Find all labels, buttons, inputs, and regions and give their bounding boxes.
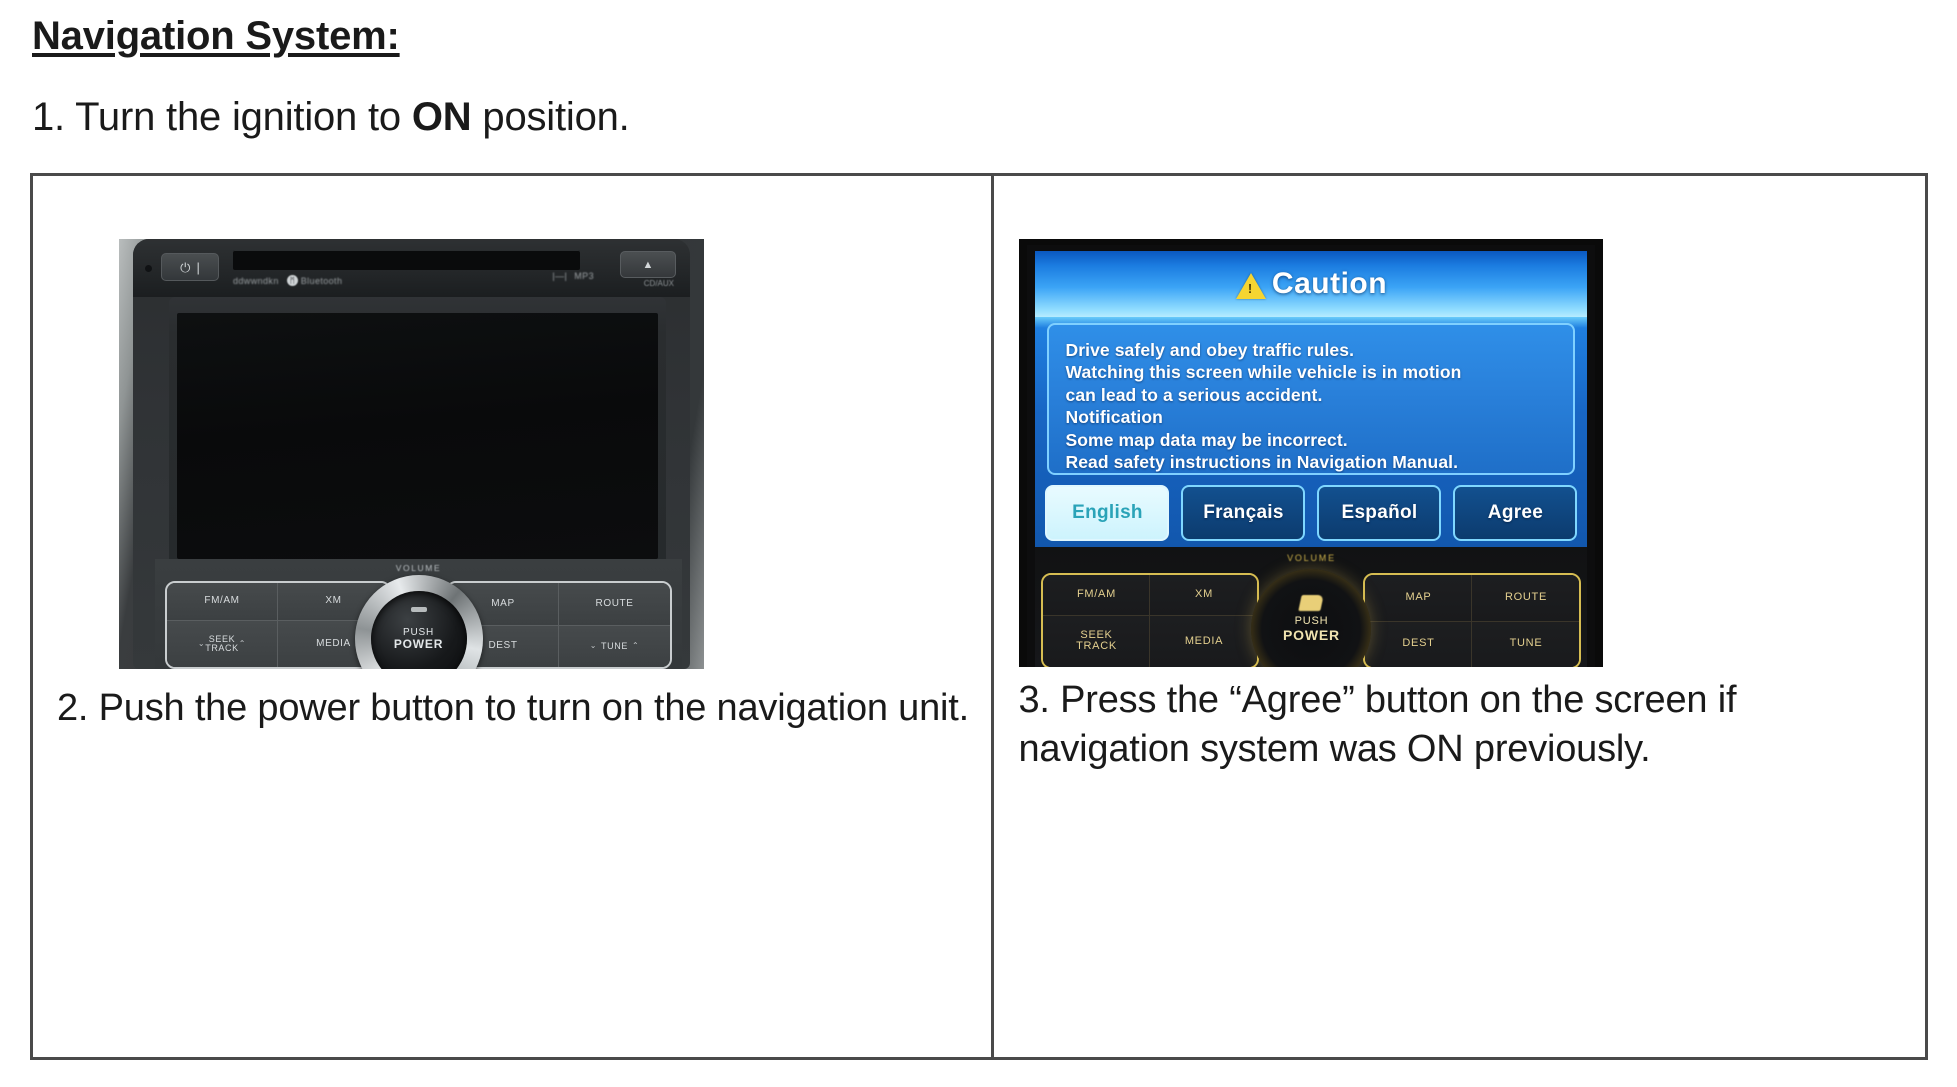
caution-line-2: Watching this screen while vehicle is in…: [1065, 361, 1573, 383]
table-cell-step-3: Caution Drive safely and obey traffic ru…: [994, 176, 1925, 1057]
language-button-english[interactable]: English: [1045, 485, 1169, 541]
lit-knob-push-label: PUSH: [1295, 615, 1329, 628]
head-unit-format-marks: |—| MP3: [552, 271, 594, 281]
aux-mark: |—|: [552, 271, 567, 281]
caution-line-3: can lead to a serious accident.: [1065, 384, 1573, 406]
tune-up-arrow-icon: ⌃: [632, 642, 639, 650]
nav-unit-hardware-panel: VOLUME FM/AM XM SEEK TRACK MEDIA: [1035, 547, 1587, 667]
step-1-emphasis: ON: [412, 95, 472, 139]
warning-triangle-icon: [1236, 273, 1266, 299]
bluetooth-label: Bluetooth: [301, 276, 343, 286]
lit-button-seek-track[interactable]: SEEK TRACK: [1043, 616, 1150, 667]
head-unit-screen-frame: [169, 297, 666, 559]
lit-button-cluster-left: FM/AM XM SEEK TRACK MEDIA: [1041, 573, 1259, 667]
lit-seek-label: SEEK: [1080, 629, 1112, 641]
power-volume-knob[interactable]: PUSH POWER: [355, 575, 483, 669]
caution-header: Caution: [1035, 251, 1587, 317]
eject-icon: ▲: [643, 259, 654, 271]
page-title: Navigation System:: [32, 14, 400, 59]
agree-button[interactable]: Agree: [1453, 485, 1577, 541]
head-unit-top-bezel: ⏻ | ddwwndkn ᛗ Bluetooth |—| MP3: [133, 239, 690, 297]
caution-title: Caution: [1272, 267, 1387, 301]
knob-position-mark-icon: [411, 607, 427, 612]
step-1-prefix: 1. Turn the ignition to: [32, 95, 412, 139]
caption-step-2: 2. Push the power button to turn on the …: [57, 684, 973, 733]
lit-track-label: TRACK: [1076, 640, 1117, 652]
head-unit-body: ⏻ | ddwwndkn ᛗ Bluetooth |—| MP3: [133, 239, 690, 669]
bluetooth-icon: ᛗ: [287, 275, 298, 286]
nav-unit-bezel: Caution Drive safely and obey traffic ru…: [1027, 245, 1595, 667]
caution-message-box: Drive safely and obey traffic rules. Wat…: [1047, 323, 1575, 475]
volume-label: VOLUME: [396, 563, 442, 573]
lit-button-media[interactable]: MEDIA: [1150, 616, 1257, 667]
heading-block: Navigation System: 1. Turn the ignition …: [30, 0, 1930, 140]
tune-label: TUNE: [601, 642, 628, 651]
nav-button-row: English Français Español Agree: [1045, 487, 1577, 539]
power-bar-icon: |: [196, 261, 199, 274]
step-1-suffix: position.: [472, 95, 630, 139]
seek-track-label: SEEK TRACK: [205, 635, 239, 654]
caution-line-1: Drive safely and obey traffic rules.: [1065, 339, 1573, 361]
caption-step-3: 3. Press the “Agree” button on the scree…: [1018, 676, 1907, 773]
lit-knob-power-label: POWER: [1283, 627, 1340, 643]
lit-knob-position-mark-icon: [1299, 595, 1324, 611]
nav-display-screen[interactable]: Caution Drive safely and obey traffic ru…: [1035, 251, 1587, 547]
language-button-espanol[interactable]: Español: [1317, 485, 1441, 541]
head-unit-power-mini-button[interactable]: ⏻ |: [161, 253, 219, 281]
brand-text: ddwwndkn: [233, 276, 279, 286]
lit-seek-track-label: SEEK TRACK: [1076, 630, 1117, 653]
step-1-instruction: 1. Turn the ignition to ON position.: [32, 95, 1930, 140]
lit-button-fm-am[interactable]: FM/AM: [1043, 575, 1150, 616]
caution-line-4: Notification: [1065, 406, 1573, 428]
lit-button-route[interactable]: ROUTE: [1472, 575, 1579, 622]
button-seek-track[interactable]: ⌄ SEEK TRACK ⌃: [167, 621, 278, 667]
seek-up-arrow-icon: ⌃: [239, 640, 246, 648]
button-tune[interactable]: ⌄ TUNE ⌃: [559, 626, 670, 668]
steps-table: ⏻ | ddwwndkn ᛗ Bluetooth |—| MP3: [30, 173, 1928, 1060]
lit-button-xm[interactable]: XM: [1150, 575, 1257, 616]
eject-button[interactable]: ▲: [620, 251, 676, 278]
lit-button-cluster-right: MAP ROUTE DEST TUNE: [1363, 573, 1581, 667]
seek-down-arrow-icon: ⌄: [198, 640, 205, 648]
mp3-mark: MP3: [574, 271, 594, 281]
cd-slot: [233, 250, 580, 270]
bluetooth-badge: ᛗ Bluetooth: [287, 275, 343, 286]
power-symbol-icon: ⏻: [180, 261, 190, 274]
head-unit-off-photo: ⏻ | ddwwndkn ᛗ Bluetooth |—| MP3: [119, 239, 704, 669]
head-unit-display-off[interactable]: [177, 313, 658, 559]
lit-button-tune[interactable]: TUNE: [1472, 622, 1579, 668]
track-label: TRACK: [205, 643, 239, 653]
knob-power-label: POWER: [394, 638, 443, 651]
table-cell-step-2: ⏻ | ddwwndkn ᛗ Bluetooth |—| MP3: [33, 176, 994, 1057]
lit-power-volume-knob[interactable]: PUSH POWER: [1251, 569, 1371, 667]
tune-down-arrow-icon: ⌄: [590, 642, 597, 650]
head-unit-brand-row: ddwwndkn ᛗ Bluetooth: [233, 273, 590, 288]
button-fm-am[interactable]: FM/AM: [167, 583, 278, 621]
lit-button-dest[interactable]: DEST: [1365, 622, 1472, 668]
eject-label: CD/AUX: [644, 279, 674, 288]
button-route[interactable]: ROUTE: [559, 583, 670, 626]
lit-button-map[interactable]: MAP: [1365, 575, 1472, 622]
caution-line-6: Read safety instructions in Navigation M…: [1065, 451, 1573, 473]
volume-label-lit: VOLUME: [1287, 553, 1336, 563]
head-unit-control-panel: VOLUME FM/AM XM ⌄ SEEK TRACK ⌃ MEDIA: [155, 559, 682, 669]
caution-line-5: Some map data may be incorrect.: [1065, 429, 1573, 451]
nav-caution-screen-photo: Caution Drive safely and obey traffic ru…: [1019, 239, 1603, 667]
language-button-francais[interactable]: Français: [1181, 485, 1305, 541]
sensor-dot-icon: [145, 265, 152, 272]
